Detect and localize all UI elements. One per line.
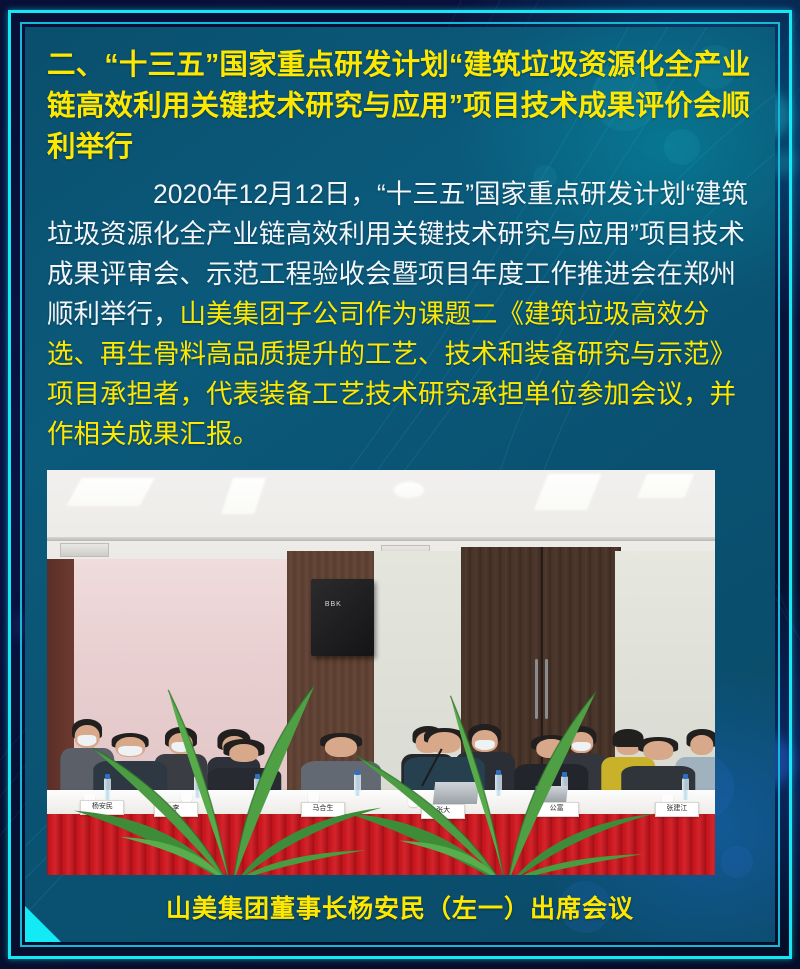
nameplate-text: 张大 [436,807,450,814]
nameplate: 马合生 [301,802,345,817]
nameplate: 杨安民 [80,800,124,815]
content-panel: 二、“十三五”国家重点研发计划“建筑垃圾资源化全产业链高效利用关键技术研究与应用… [25,27,775,942]
page-title: 二、“十三五”国家重点研发计划“建筑垃圾资源化全产业链高效利用关键技术研究与应用… [47,45,753,168]
speaker-brand-label: BBK [325,601,342,608]
water-bottle [254,778,261,800]
wall-speaker: BBK [311,579,374,656]
ceiling-light-panel [66,478,155,506]
nameplate-text: 公富 [550,805,564,812]
meeting-photo: BBK [47,470,715,875]
tea-cup [408,796,419,807]
nameplate-text: 李 [172,805,186,812]
article-body: 2020年12月12日，“十三五”国家重点研发计划“建筑垃圾资源化全产业链高效利… [47,174,753,454]
nameplate-text: 张建江 [666,805,687,812]
ceiling-light-panel [637,474,694,498]
nameplate: 李 [154,802,198,817]
water-bottle [354,774,361,796]
conference-table [47,790,715,816]
photo-scene: BBK [47,470,715,875]
nameplate-text: 马合生 [312,805,333,812]
water-bottle [495,774,502,796]
laptop [534,786,568,802]
nameplate: 张大 [421,804,465,819]
water-bottle [194,776,201,798]
article-content: 二、“十三五”国家重点研发计划“建筑垃圾资源化全产业链高效利用关键技术研究与应用… [25,27,775,454]
table-red-skirt [47,814,715,875]
nameplate: 公富 [535,802,579,817]
nameplate: 张建江 [655,802,699,817]
photo-caption: 山美集团董事长杨安民（左一）出席会议 [25,889,775,925]
laptop [433,782,479,804]
water-bottle [104,778,111,800]
ceiling-rail [47,537,715,541]
poster-canvas: 二、“十三五”国家重点研发计划“建筑垃圾资源化全产业链高效利用关键技术研究与应用… [0,0,800,969]
ceiling-vent [60,543,109,557]
water-bottle [682,778,689,800]
nameplate-text: 杨安民 [92,803,113,810]
